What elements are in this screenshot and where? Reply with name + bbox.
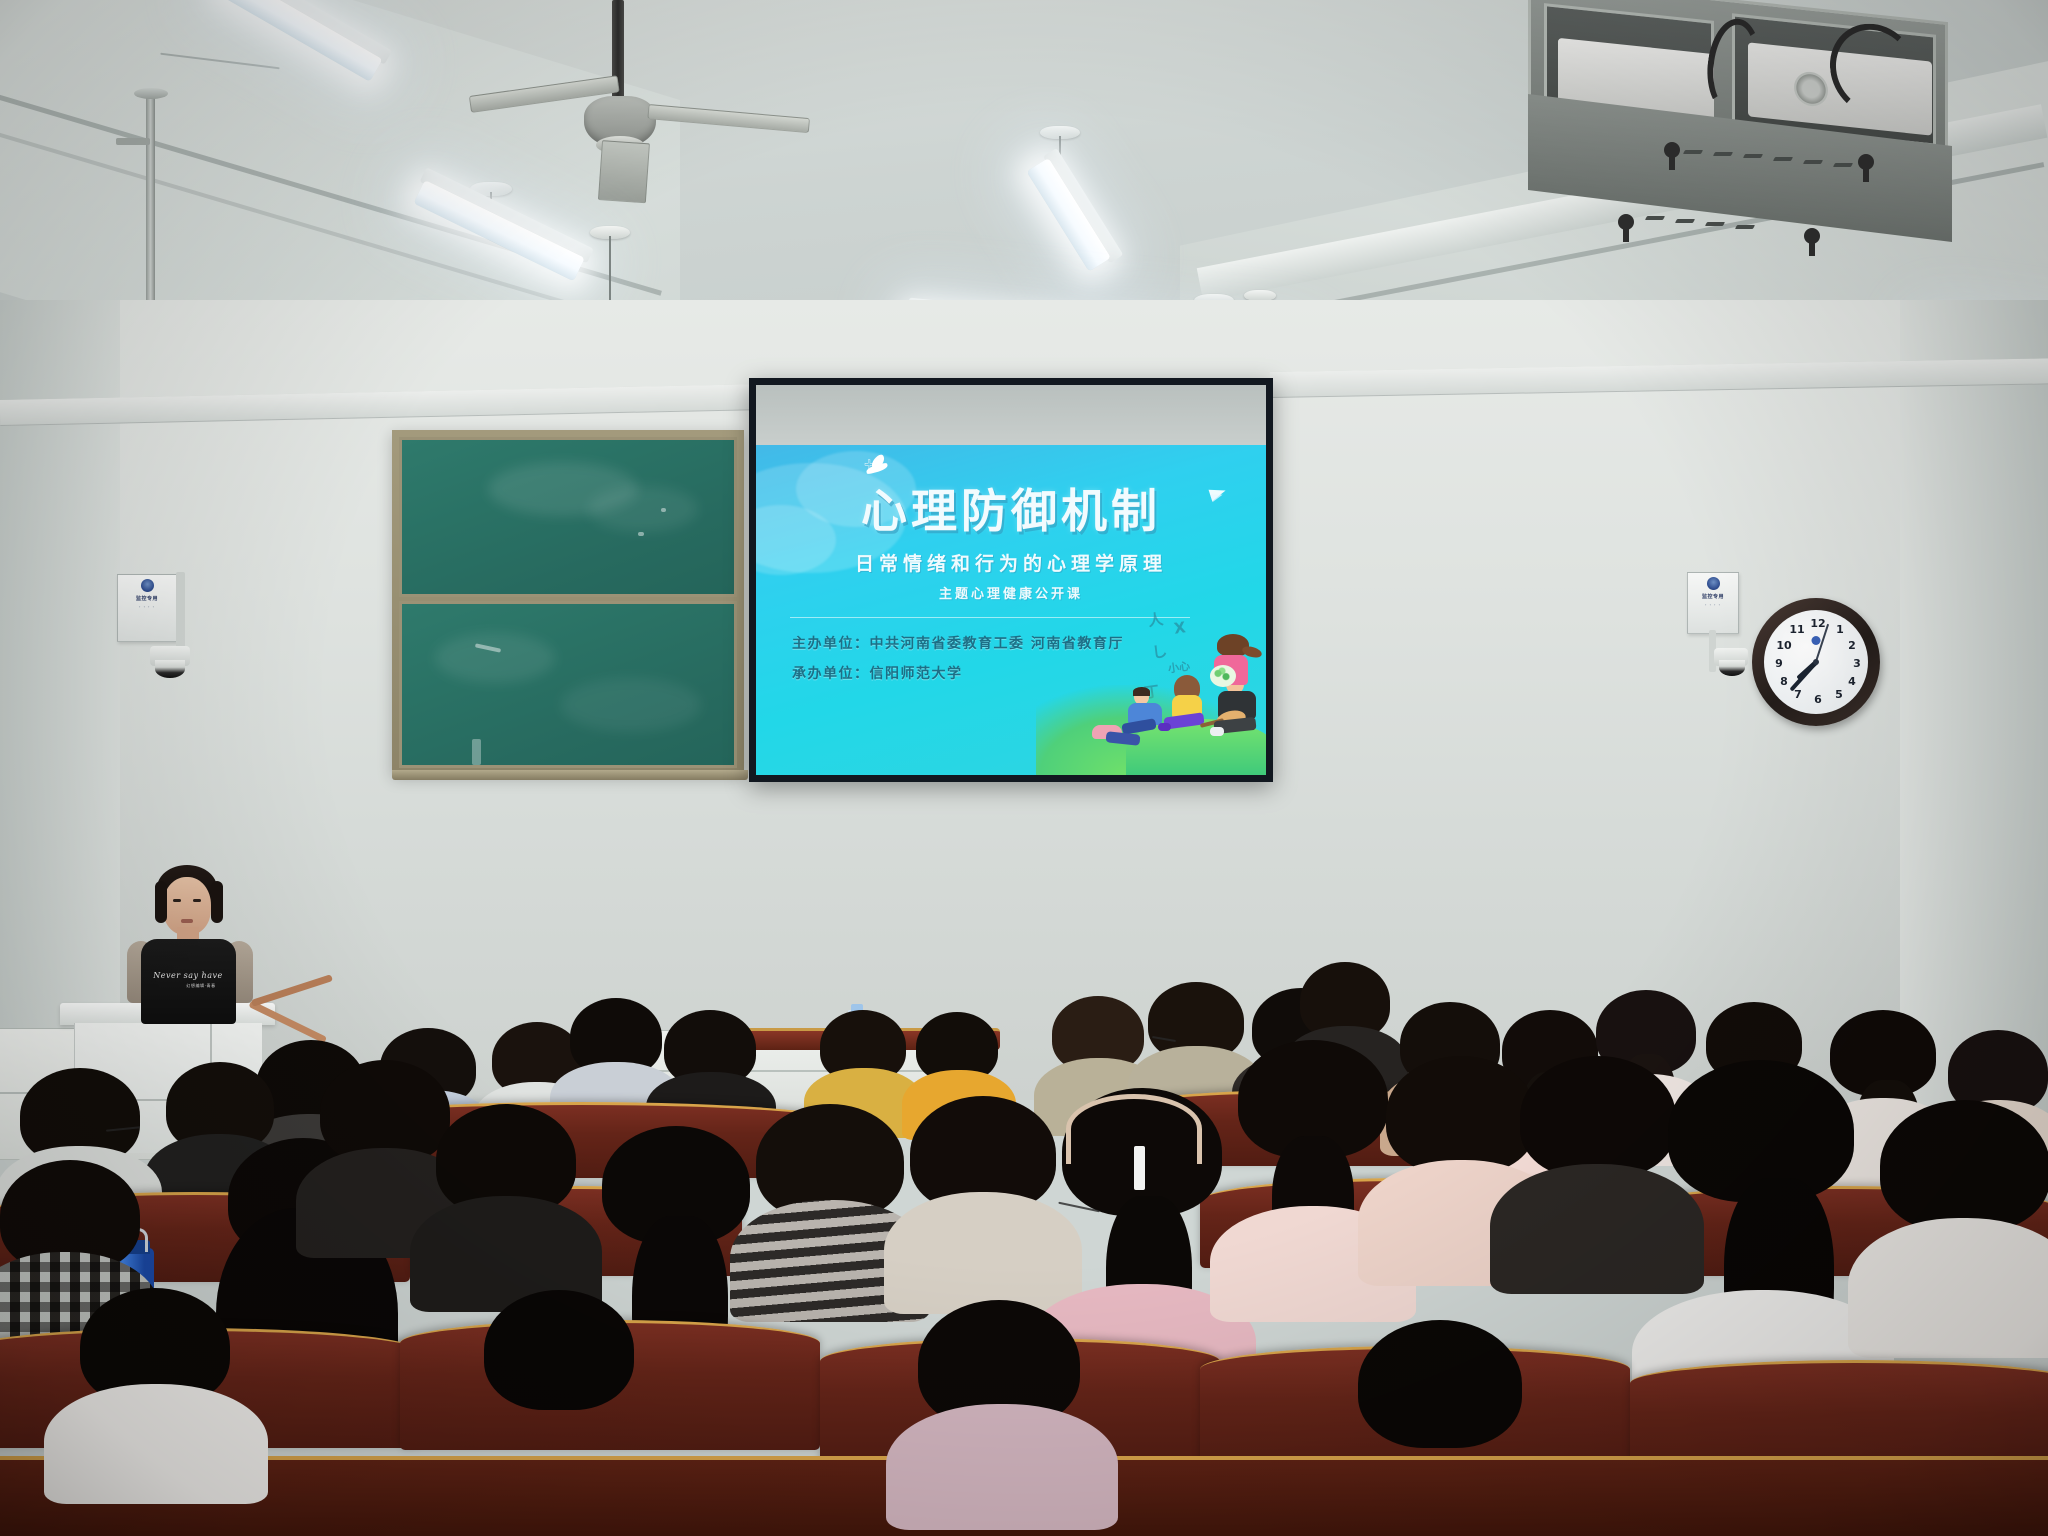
cage-vent <box>1713 152 1733 156</box>
audience-member <box>1520 1056 1676 1276</box>
camera-arm-left <box>176 572 185 652</box>
clock-numeral-11: 11 <box>1789 622 1805 638</box>
clock-numeral-3: 3 <box>1849 656 1865 672</box>
audience-member <box>320 1060 450 1210</box>
surveillance-sign-sub: ・・・・ <box>1704 603 1722 608</box>
cage-vent <box>1803 160 1823 164</box>
clock-numeral-2: 2 <box>1844 638 1860 654</box>
mount-bolt-right <box>1858 154 1874 170</box>
mount-bolt-left-2 <box>1618 214 1634 230</box>
projection-screen: 🕆 心理防御机制 日常情绪和行为的心理学原理 主题心理健康公开课 主办单位：中共… <box>749 378 1273 782</box>
shoulders <box>884 1192 1082 1314</box>
screen-surface: 🕆 心理防御机制 日常情绪和行为的心理学原理 主题心理健康公开课 主办单位：中共… <box>756 385 1266 775</box>
surveillance-sign-label: 监控专用 <box>136 595 158 602</box>
audience-member <box>756 1104 904 1294</box>
figure-hair <box>1133 687 1150 696</box>
clock-numeral-6: 6 <box>1810 692 1826 708</box>
slide-tagline: 主题心理健康公开课 <box>756 583 1266 602</box>
dome-camera-left <box>155 660 185 678</box>
mount-bolt-right-2 <box>1804 228 1820 244</box>
chalk-smudge <box>588 486 698 532</box>
surveillance-sign-sub: ・・・・ <box>138 605 156 610</box>
cage-vent <box>1735 225 1755 229</box>
audience-member <box>820 1010 906 1102</box>
decorative-scribble: し <box>1151 640 1169 663</box>
chalk-mark-stub <box>472 739 481 765</box>
audience-member <box>1148 982 1244 1086</box>
presenter: Never say have 幻想编辑·青春 <box>125 855 265 1020</box>
audience-member <box>1880 1100 2048 1350</box>
cage-vent <box>1833 163 1853 167</box>
hair <box>1520 1056 1676 1178</box>
audience-member-front <box>60 1288 250 1468</box>
presenter-mouth <box>181 919 193 923</box>
flower-bouquet-leaves <box>1212 667 1232 683</box>
screen-blank-margin-top <box>756 385 1266 445</box>
audience-member <box>570 998 662 1096</box>
presenter-eye-left <box>173 899 181 902</box>
audience-member <box>910 1096 1056 1286</box>
surveillance-sign-label: 监控专用 <box>1702 593 1724 600</box>
dome-camera-right <box>1719 660 1745 676</box>
audience-member-front <box>1340 1320 1540 1510</box>
audience-member-front <box>470 1290 650 1470</box>
audience-member <box>436 1104 576 1284</box>
presenter-shirt-subtext: 幻想编辑·青春 <box>173 983 229 989</box>
clock-numeral-10: 10 <box>1776 638 1792 654</box>
wall-clock: 12 1 2 3 4 5 6 7 8 9 10 11 <box>1752 598 1880 726</box>
figure-legs <box>1106 731 1141 745</box>
chalk-mark <box>661 508 666 512</box>
hair <box>1358 1320 1522 1448</box>
lecture-hall-photo: 监控专用 ・・・・ 监控专用 ・・・・ 12 1 2 3 4 5 6 7 8 <box>0 0 2048 1536</box>
audience-member <box>664 1010 756 1106</box>
chalkboard <box>392 430 744 775</box>
presenter-torso <box>141 939 236 1024</box>
surveillance-sign-right: 监控专用 ・・・・ <box>1687 572 1739 634</box>
presenter-shirt-script: Never say have <box>153 971 223 980</box>
police-badge-emblem <box>1707 577 1720 590</box>
presenter-hair-side-right <box>211 881 223 923</box>
fan-blade-3 <box>598 140 650 203</box>
audience-member-ponytail-front <box>1668 1060 1868 1360</box>
audience-member <box>916 1012 998 1104</box>
presenter-eye-right <box>193 899 201 902</box>
decorative-scribble: 小心 <box>1167 658 1191 677</box>
hair-clip <box>1134 1146 1145 1190</box>
projector-mount <box>1500 0 1980 244</box>
clock-brand-logo <box>1812 636 1821 645</box>
decorative-scribble: X <box>1173 618 1187 637</box>
decorative-scribble: 人 <box>1147 608 1165 631</box>
clock-numeral-5: 5 <box>1831 687 1847 703</box>
cage-vent <box>1645 216 1665 220</box>
illustration-figure-reclining <box>1092 721 1140 751</box>
figure-shoe <box>1158 723 1171 731</box>
hair <box>1880 1100 2048 1232</box>
chalk-mark <box>638 532 644 536</box>
ceiling-pipe-elbow <box>116 138 150 145</box>
chalk-smudge <box>561 678 701 732</box>
clock-numeral-12: 12 <box>1810 616 1826 632</box>
presenter-hair-side-left <box>155 881 167 923</box>
hair <box>484 1290 634 1410</box>
figure-shoe <box>1210 727 1224 736</box>
clock-face: 12 1 2 3 4 5 6 7 8 9 10 11 <box>1764 610 1868 714</box>
slide-organizer-line: 承办单位：信阳师范大学 <box>792 663 963 683</box>
cage-vent <box>1743 154 1763 158</box>
shoulders <box>886 1404 1118 1530</box>
shoulders <box>1848 1218 2048 1358</box>
slide-title: 心理防御机制 <box>756 475 1266 541</box>
illustration-figure-girl-flowers <box>1208 635 1266 695</box>
ceiling-pipe-flange <box>134 88 168 99</box>
police-badge-emblem <box>141 579 154 592</box>
chalk-tray <box>392 770 748 780</box>
clock-numeral-9: 9 <box>1771 656 1787 672</box>
chalkboard-panel-lower <box>399 601 737 768</box>
clock-center-pin <box>1813 659 1819 665</box>
slide-host-line: 主办单位：中共河南省委教育工委 河南省教育厅 <box>792 633 1124 653</box>
mount-bolt-left <box>1664 142 1680 158</box>
audience-member-front <box>900 1300 1100 1490</box>
hair <box>1386 1056 1536 1174</box>
slide-subtitle: 日常情绪和行为的心理学原理 <box>756 549 1266 576</box>
cage-vent <box>1773 157 1793 161</box>
cage-vent <box>1675 219 1695 223</box>
chalk-smudge <box>435 633 555 683</box>
slide-divider-rule <box>790 617 1190 618</box>
shoulders <box>44 1384 268 1504</box>
cage-vent <box>1683 150 1703 154</box>
chalkboard-panel-upper <box>399 437 737 597</box>
surveillance-sign-left: 监控专用 ・・・・ <box>117 574 177 642</box>
cage-vent <box>1705 222 1725 226</box>
presentation-slide: 🕆 心理防御机制 日常情绪和行为的心理学原理 主题心理健康公开课 主办单位：中共… <box>756 445 1266 775</box>
clock-numeral-1: 1 <box>1832 622 1848 638</box>
